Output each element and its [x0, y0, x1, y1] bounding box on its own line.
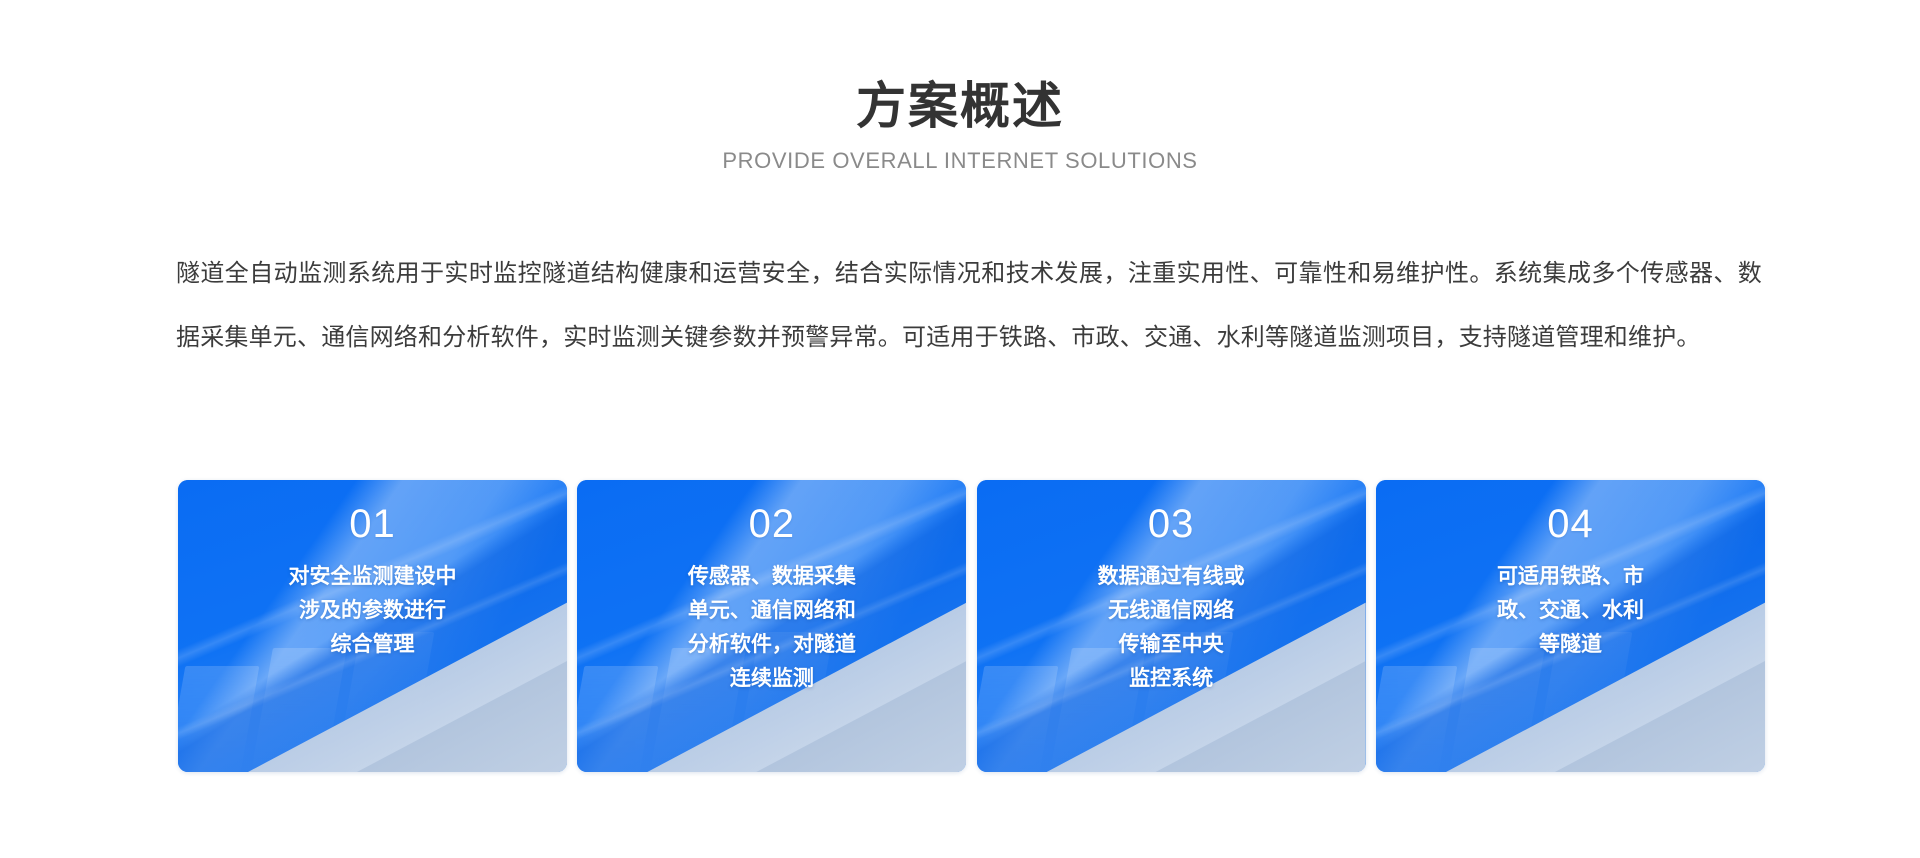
page-header: 方案概述 PROVIDE OVERALL INTERNET SOLUTIONS [0, 78, 1920, 174]
card-description: 对安全监测建设中 涉及的参数进行 综合管理 [269, 560, 477, 662]
card-content: 04 可适用铁路、市 政、交通、水利 等隧道 [1376, 480, 1765, 772]
card-description: 可适用铁路、市 政、交通、水利 等隧道 [1477, 560, 1664, 662]
card-number: 01 [349, 502, 396, 546]
card-content: 02 传感器、数据采集 单元、通信网络和 分析软件，对隧道 连续监测 [577, 480, 966, 772]
page-subtitle: PROVIDE OVERALL INTERNET SOLUTIONS [0, 148, 1920, 174]
card-description: 传感器、数据采集 单元、通信网络和 分析软件，对隧道 连续监测 [668, 560, 876, 696]
feature-card-list: 01 对安全监测建设中 涉及的参数进行 综合管理 02 传感器、数据采集 单元、… [178, 480, 1765, 772]
intro-paragraph: 隧道全自动监测系统用于实时监控隧道结构健康和运营安全，结合实际情况和技术发展，注… [176, 242, 1762, 370]
feature-card-04[interactable]: 04 可适用铁路、市 政、交通、水利 等隧道 [1376, 480, 1765, 772]
card-number: 03 [1148, 502, 1195, 546]
card-content: 01 对安全监测建设中 涉及的参数进行 综合管理 [178, 480, 567, 772]
page-title: 方案概述 [0, 78, 1920, 136]
card-number: 04 [1547, 502, 1594, 546]
slide-root: 方案概述 PROVIDE OVERALL INTERNET SOLUTIONS … [0, 0, 1920, 858]
card-number: 02 [749, 502, 796, 546]
card-description: 数据通过有线或 无线通信网络 传输至中央 监控系统 [1078, 560, 1265, 696]
card-content: 03 数据通过有线或 无线通信网络 传输至中央 监控系统 [977, 480, 1366, 772]
feature-card-01[interactable]: 01 对安全监测建设中 涉及的参数进行 综合管理 [178, 480, 567, 772]
feature-card-02[interactable]: 02 传感器、数据采集 单元、通信网络和 分析软件，对隧道 连续监测 [577, 480, 966, 772]
feature-card-03[interactable]: 03 数据通过有线或 无线通信网络 传输至中央 监控系统 [977, 480, 1366, 772]
